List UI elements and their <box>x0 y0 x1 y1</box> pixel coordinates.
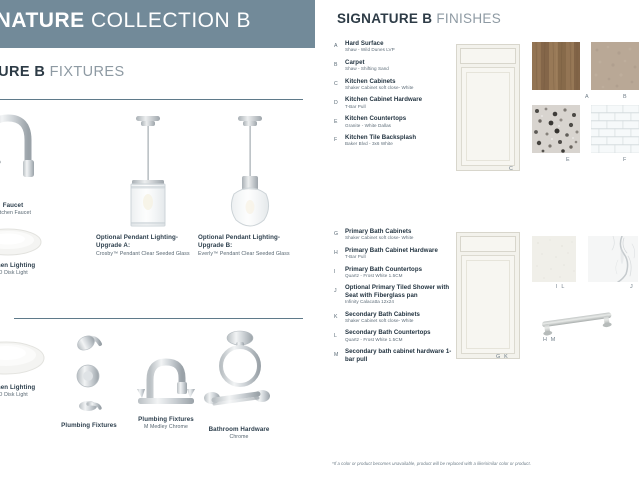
legend-desc: Infinity Calacatta 12x24 <box>345 299 452 305</box>
legend-letter: K <box>334 314 337 320</box>
page-title-light: COLLECTION B <box>85 9 251 32</box>
legend-desc: Shaker Cabinet soft close- White <box>345 235 452 241</box>
legend-item: I Primary Bath Countertops Quartz - Fros… <box>334 266 452 279</box>
legend-desc: Granite - White Dallas <box>345 123 446 129</box>
kitchen-faucet-image <box>0 108 48 200</box>
legend-title: Hard Surface <box>345 40 446 47</box>
cabinet-door-panel <box>461 67 515 166</box>
bathroom-hardware-caption: Bathroom Hardware <box>186 426 292 434</box>
legend-item: D Kitchen Cabinet Hardware T-Bar Pull <box>334 96 446 109</box>
fixture-kitchen-lighting: Kitchen Lighting LED Disk Light <box>0 222 46 278</box>
legend-letter: B <box>334 62 337 68</box>
legend-desc: T-Bar Pull <box>345 254 452 260</box>
legend-desc: Shaker Cabinet soft close- White <box>345 318 452 324</box>
legend-title: Primary Bath Cabinet Hardware <box>345 247 452 254</box>
kitchen-disk-light-image <box>0 222 46 262</box>
finishes-title-bold: SIGNATURE B <box>337 11 432 26</box>
bath-cabinet-drawer-front <box>460 236 516 252</box>
legend-title: Kitchen Cabinets <box>345 78 446 85</box>
swatch-hard-surface-lvp <box>532 42 580 90</box>
legend-item: K Secondary Bath Cabinets Shaker Cabinet… <box>334 311 452 324</box>
legend-desc: Baker Blvd - 3x6 White <box>345 141 446 147</box>
fixtures-title-light: FIXTURES <box>45 64 124 80</box>
fixture-pendant-upgrade-b: Optional Pendant Lighting- Upgrade B: Ev… <box>198 110 302 258</box>
fixture-pendant-upgrade-a: Optional Pendant Lighting- Upgrade A: Cr… <box>96 110 200 258</box>
fixture-kitchen-lighting-2: Kitchen Lighting LED Disk Light <box>0 332 46 400</box>
divider-top <box>0 99 303 100</box>
kitchen-faucet-caption: Faucet <box>0 202 48 210</box>
swatch-kitchen-backsplash-tile <box>591 105 639 153</box>
legend-title: Kitchen Cabinet Hardware <box>345 96 446 103</box>
legend-desc: T-Bar Pull <box>345 104 446 110</box>
design-board-slide: SIGNATURE COLLECTION B SIGNATURE B FIXTU… <box>0 0 640 480</box>
legend-letter: I <box>334 269 335 275</box>
page-title: SIGNATURE COLLECTION B <box>0 9 251 33</box>
swatch-label-hm: H M <box>543 337 556 343</box>
disclaimer-footnote: *If a color or product becomes unavailab… <box>332 461 632 466</box>
divider-bottom <box>14 318 303 319</box>
legend-item: B Carpet Shaw - Shifting Sand <box>334 59 446 72</box>
kitchen-disk-light-2-image <box>0 332 46 384</box>
finishes-title-light: FINISHES <box>432 11 501 26</box>
swatch-label-e: E <box>566 157 571 163</box>
pendant-b-image <box>198 110 302 234</box>
legend-title: Secondary bath cabinet hardware 1-bar pu… <box>345 348 452 363</box>
legend-letter: E <box>334 119 337 125</box>
pendant-a-caption: Optional Pendant Lighting- Upgrade A: <box>96 234 200 251</box>
fixture-bathroom-hardware: Bathroom Hardware Chrome <box>186 328 292 442</box>
swatch-label-il: I L <box>556 284 566 290</box>
legend-item: G Primary Bath Cabinets Shaker Cabinet s… <box>334 228 452 241</box>
finishes-section-title: SIGNATURE B FINISHES <box>337 11 501 26</box>
bathroom-hardware-image <box>186 328 292 426</box>
swatch-label-a: A <box>585 94 590 100</box>
swatch-label-c: C <box>509 166 514 172</box>
cabinet-drawer-front <box>460 48 516 64</box>
legend-title: Secondary Bath Countertops <box>345 329 452 336</box>
swatch-label-j: J <box>630 284 634 290</box>
swatch-bath-cabinet-door <box>456 232 518 357</box>
legend-title: Carpet <box>345 59 446 66</box>
kitchen-lighting-2-sub: LED Disk Light <box>0 392 46 399</box>
legend-letter: D <box>334 100 338 106</box>
legend-desc: Quartz - Frost White 1.5CM <box>345 273 452 279</box>
legend-item: M Secondary bath cabinet hardware 1-bar … <box>334 348 452 363</box>
legend-letter: F <box>334 137 337 143</box>
kitchen-faucet-sub: Kitchen Faucet <box>0 210 48 217</box>
finishes-legend-kitchen: A Hard Surface Shaw - Wild Dunes LVP B C… <box>334 40 446 153</box>
legend-title: Primary Bath Cabinets <box>345 228 452 235</box>
swatch-shower-tile-calacatta <box>588 236 638 282</box>
legend-item: F Kitchen Tile Backsplash Baker Blvd - 3… <box>334 134 446 147</box>
bath-cabinet-door-panel <box>461 255 515 354</box>
swatch-label-f: F <box>623 157 628 163</box>
legend-item: L Secondary Bath Countertops Quartz - Fr… <box>334 329 452 342</box>
legend-title: Kitchen Countertops <box>345 115 446 122</box>
swatch-cabinet-hardware-tbar-pull <box>532 305 622 339</box>
swatch-kitchen-cabinet-door <box>456 44 518 169</box>
pendant-a-image <box>96 110 200 234</box>
fixtures-title-bold: SIGNATURE B <box>0 64 45 80</box>
legend-desc: Shaw - Shifting Sand <box>345 66 446 72</box>
legend-letter: G <box>334 231 338 237</box>
legend-title: Optional Primary Tiled Shower with Seat … <box>345 284 452 299</box>
legend-letter: J <box>334 288 337 294</box>
swatch-label-gk: G K <box>496 354 509 360</box>
legend-title: Primary Bath Countertops <box>345 266 452 273</box>
legend-item: H Primary Bath Cabinet Hardware T-Bar Pu… <box>334 247 452 260</box>
fixture-kitchen-faucet: Faucet Kitchen Faucet <box>0 108 48 218</box>
right-panel: SIGNATURE B FINISHES A Hard Surface Shaw… <box>320 0 640 480</box>
swatch-kitchen-countertop-granite <box>532 105 580 153</box>
swatch-carpet <box>591 42 639 90</box>
left-panel: SIGNATURE COLLECTION B SIGNATURE B FIXTU… <box>0 0 320 480</box>
legend-item: C Kitchen Cabinets Shaker Cabinet soft c… <box>334 78 446 91</box>
legend-desc: Shaw - Wild Dunes LVP <box>345 47 446 53</box>
legend-item: A Hard Surface Shaw - Wild Dunes LVP <box>334 40 446 53</box>
legend-letter: C <box>334 81 338 87</box>
legend-item: J Optional Primary Tiled Shower with Sea… <box>334 284 452 305</box>
legend-letter: M <box>334 352 338 358</box>
kitchen-lighting-sub: LED Disk Light <box>0 270 46 277</box>
bathroom-hardware-sub: Chrome <box>186 434 292 441</box>
finishes-legend-bath: G Primary Bath Cabinets Shaker Cabinet s… <box>334 228 452 368</box>
legend-desc: Shaker Cabinet soft close- White <box>345 85 446 91</box>
swatch-label-b: B <box>623 94 628 100</box>
legend-item: E Kitchen Countertops Granite - White Da… <box>334 115 446 128</box>
legend-desc: Quartz - Frost White 1.5CM <box>345 337 452 343</box>
swatch-bath-countertop-quartz <box>532 236 576 282</box>
legend-title: Secondary Bath Cabinets <box>345 311 452 318</box>
pendant-b-sub: Everly™ Pendant Clear Seeded Glass <box>198 251 302 258</box>
kitchen-lighting-caption: Kitchen Lighting <box>0 262 46 270</box>
kitchen-lighting-2-caption: Kitchen Lighting <box>0 384 46 392</box>
page-title-bold: SIGNATURE <box>0 9 85 32</box>
legend-letter: H <box>334 250 338 256</box>
pendant-b-caption: Optional Pendant Lighting- Upgrade B: <box>198 234 302 251</box>
legend-title: Kitchen Tile Backsplash <box>345 134 446 141</box>
pendant-a-sub: Crosby™ Pendant Clear Seeded Glass <box>96 251 200 258</box>
legend-letter: A <box>334 43 337 49</box>
fixtures-section-title: SIGNATURE B FIXTURES <box>0 64 125 80</box>
legend-letter: L <box>334 333 337 339</box>
collection-header-band: SIGNATURE COLLECTION B <box>0 0 315 48</box>
